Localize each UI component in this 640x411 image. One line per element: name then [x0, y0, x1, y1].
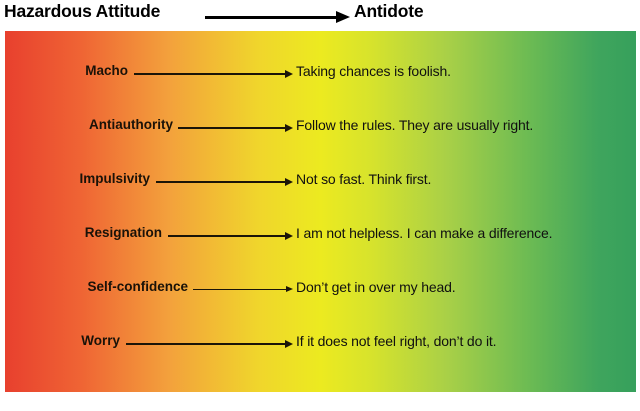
- antidote-label: I am not helpless. I can make a differen…: [296, 218, 552, 248]
- right-arrow-icon: [156, 177, 293, 187]
- attitude-label: Worry: [5, 326, 120, 356]
- right-arrow-icon: [168, 231, 293, 241]
- table-row: Impulsivity Not so fast. Think first.: [5, 164, 636, 194]
- attitude-label: Macho: [5, 56, 128, 86]
- arrow-head: [336, 11, 350, 23]
- arrow-shaft: [134, 73, 286, 75]
- arrow-shaft: [205, 16, 340, 19]
- antidote-label: Follow the rules. They are usually right…: [296, 110, 533, 140]
- header-title-hazardous-attitude: Hazardous Attitude: [4, 1, 160, 22]
- attitude-label: Antiauthority: [5, 110, 173, 140]
- arrow-shaft: [168, 235, 286, 237]
- arrow-head: [285, 70, 293, 78]
- arrow-head: [285, 232, 293, 240]
- antidote-label: Don’t get in over my head.: [296, 272, 456, 302]
- right-arrow-icon: [178, 123, 293, 133]
- right-arrow-icon: [126, 339, 293, 349]
- table-row: Worry If it does not feel right, don’t d…: [5, 326, 636, 356]
- figure-header: Hazardous Attitude Antidote: [0, 0, 640, 30]
- table-row: Antiauthority Follow the rules. They are…: [5, 110, 636, 140]
- table-row: Macho Taking chances is foolish.: [5, 56, 636, 86]
- antidote-label: If it does not feel right, don’t do it.: [296, 326, 496, 356]
- arrow-shaft: [156, 181, 286, 183]
- arrow-head: [285, 340, 293, 348]
- table-row: Resignation I am not helpless. I can mak…: [5, 218, 636, 248]
- header-long-right-arrow-icon: [205, 11, 350, 23]
- arrow-head: [285, 124, 293, 132]
- right-arrow-icon: [134, 69, 293, 79]
- arrow-shaft: [126, 343, 286, 345]
- arrow-head: [286, 286, 293, 292]
- attitude-label: Resignation: [5, 218, 162, 248]
- antidote-label: Not so fast. Think first.: [296, 164, 431, 194]
- arrow-shaft: [178, 127, 286, 129]
- attitude-label: Impulsivity: [5, 164, 150, 194]
- arrow-head: [285, 178, 293, 186]
- header-title-antidote: Antidote: [354, 1, 423, 22]
- gradient-panel: Macho Taking chances is foolish. Antiaut…: [5, 31, 636, 392]
- attitude-label: Self-confidence: [5, 272, 188, 302]
- antidote-label: Taking chances is foolish.: [296, 56, 451, 86]
- hazardous-attitude-antidote-figure: Hazardous Attitude Antidote Macho Taking…: [0, 0, 640, 411]
- table-row: Self-confidence Don’t get in over my hea…: [5, 272, 636, 302]
- right-arrow-icon: [193, 285, 293, 295]
- arrow-shaft: [193, 289, 286, 290]
